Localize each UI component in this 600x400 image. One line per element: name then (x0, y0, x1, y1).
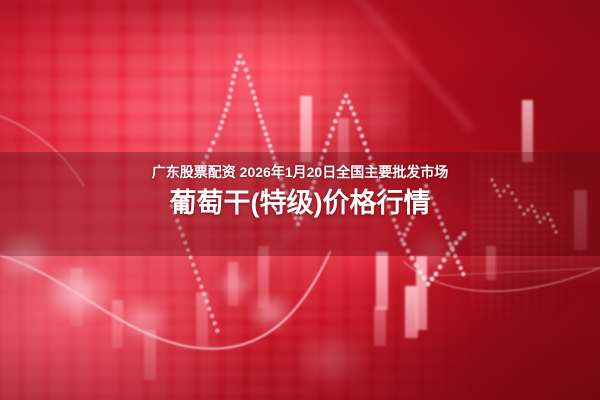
banner-image: 广东股票配资 2026年1月20日全国主要批发市场 葡萄干(特级)价格行情 (0, 0, 600, 400)
headline-text: 广东股票配资 2026年1月20日全国主要批发市场 葡萄干(特级)价格行情 (0, 154, 600, 220)
headline-line-1: 广东股票配资 2026年1月20日全国主要批发市场 (0, 154, 600, 181)
headline-line-2: 葡萄干(特级)价格行情 (0, 181, 600, 220)
